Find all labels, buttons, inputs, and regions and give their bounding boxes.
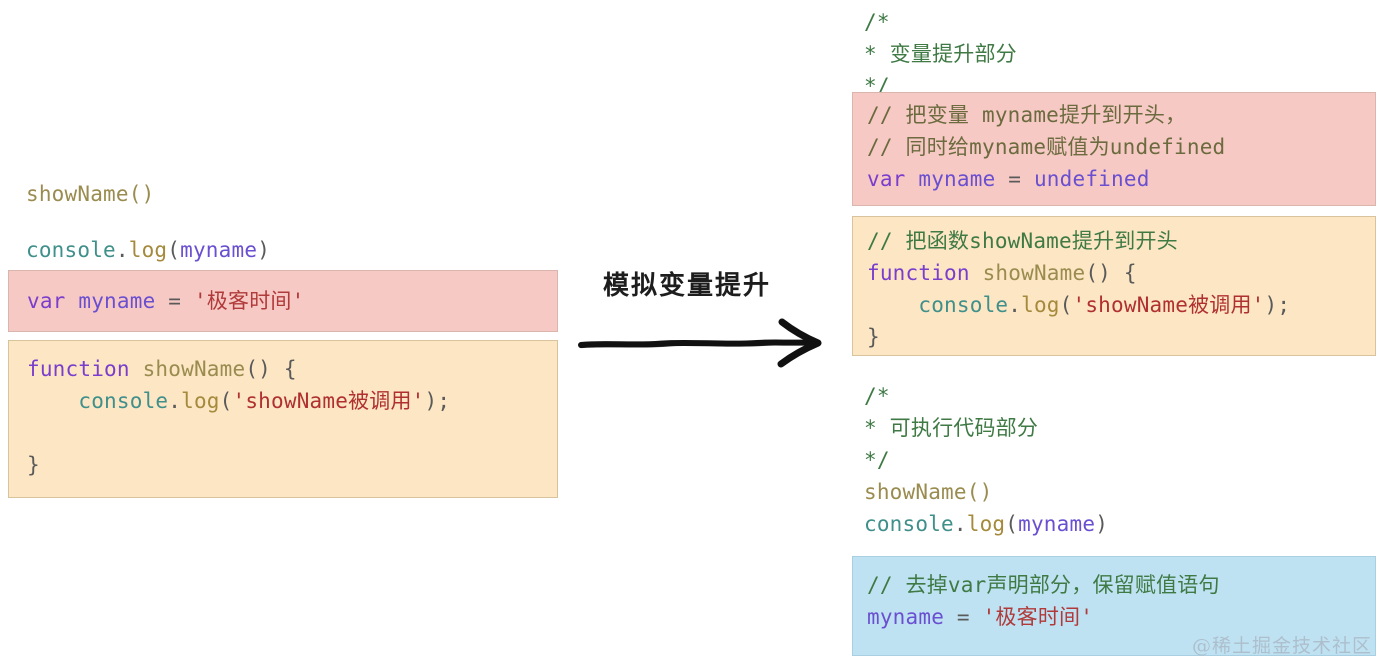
console-token: console: [78, 389, 168, 413]
dot-token: .: [116, 238, 129, 262]
call-showname-token: showName(): [864, 480, 992, 504]
equals-token: =: [995, 167, 1034, 191]
comment-close-token: */: [864, 448, 890, 472]
log-token: log: [967, 512, 1006, 536]
comment-text-token: * 变量提升部分: [864, 42, 1017, 66]
watermark-text: @稀土掘金技术社区: [1192, 631, 1372, 658]
myname-token: myname: [180, 238, 257, 262]
paren-open-token: (: [220, 389, 233, 413]
function-signature-tail: () {: [1085, 261, 1136, 285]
paren-close-token: );: [425, 389, 451, 413]
function-name-token: showName: [983, 261, 1086, 285]
transition-label: 模拟变量提升: [603, 265, 771, 302]
string-literal-token: 'showName被调用': [1073, 293, 1265, 317]
right-assignment-code: // 去掉var声明部分，保留赋值语句 myname = '极客时间': [867, 569, 1220, 633]
log-token: log: [1021, 293, 1060, 317]
string-literal-token: 'showName被调用': [233, 389, 425, 413]
myname-token: myname: [918, 167, 995, 191]
comment-line: // 去掉var声明部分，保留赋值语句: [867, 573, 1220, 597]
paren-open-token: (: [1005, 512, 1018, 536]
arrow-right-icon: [575, 318, 843, 370]
console-token: console: [864, 512, 954, 536]
dot-token: .: [954, 512, 967, 536]
indent-space: [27, 389, 78, 413]
left-function-code: function showName() { console.log('showN…: [27, 353, 450, 481]
left-console-log-line: console.log(myname): [26, 234, 270, 266]
log-token: log: [181, 389, 220, 413]
paren-close-token: ): [1095, 512, 1108, 536]
undefined-token: undefined: [1034, 167, 1150, 191]
dot-token: .: [1008, 293, 1021, 317]
myname-token: myname: [1018, 512, 1095, 536]
right-function-hoisting-box: // 把函数showName提升到开头 function showName() …: [852, 216, 1376, 356]
function-signature-tail: () {: [245, 357, 296, 381]
comment-open-token: /*: [864, 384, 890, 408]
dot-token: .: [168, 389, 181, 413]
comment-open-token: /*: [864, 10, 890, 34]
right-function-hoisting-code: // 把函数showName提升到开头 function showName() …: [867, 225, 1290, 353]
closing-brace-token: }: [27, 453, 40, 477]
function-keyword-token: function: [867, 261, 970, 285]
closing-brace-token: }: [867, 325, 880, 349]
string-literal-token: '极客时间': [983, 605, 1094, 629]
string-literal-token: '极客时间': [194, 289, 305, 313]
equals-token: =: [155, 289, 194, 313]
indent-space: [867, 293, 918, 317]
function-name-token: showName: [143, 357, 246, 381]
console-token: console: [918, 293, 1008, 317]
right-var-hoisting-box: // 把变量 myname提升到开头， // 同时给myname赋值为undef…: [852, 92, 1376, 206]
comment-line-1: // 把变量 myname提升到开头，: [867, 103, 1186, 127]
paren-close-token: ): [257, 238, 270, 262]
var-keyword-token: var: [867, 167, 906, 191]
paren-close-token: );: [1265, 293, 1291, 317]
paren-open-token: (: [1060, 293, 1073, 317]
diagram-canvas: showName() console.log(myname) var mynam…: [0, 0, 1386, 664]
right-hoisting-comment-block: /* * 变量提升部分 */: [864, 6, 1017, 102]
left-var-declaration-line: var myname = '极客时间': [27, 285, 304, 317]
left-function-declaration-box: function showName() { console.log('showN…: [8, 340, 558, 498]
paren-open-token: (: [167, 238, 180, 262]
function-keyword-token: function: [27, 357, 130, 381]
comment-text-token: * 可执行代码部分: [864, 416, 1038, 440]
equals-token: =: [944, 605, 983, 629]
function-name-token: showName(): [26, 182, 154, 206]
log-token: log: [129, 238, 168, 262]
comment-line-2: // 同时给myname赋值为undefined: [867, 135, 1225, 159]
console-token: console: [26, 238, 116, 262]
right-var-hoisting-code: // 把变量 myname提升到开头， // 同时给myname赋值为undef…: [867, 99, 1225, 195]
left-var-declaration-box: var myname = '极客时间': [8, 270, 558, 332]
right-executable-comment-block: /* * 可执行代码部分 */ showName() console.log(m…: [864, 380, 1108, 540]
myname-token: myname: [867, 605, 944, 629]
myname-token: myname: [78, 289, 155, 313]
comment-line: // 把函数showName提升到开头: [867, 229, 1178, 253]
left-call-showname: showName(): [26, 178, 154, 210]
var-keyword-token: var: [27, 289, 66, 313]
